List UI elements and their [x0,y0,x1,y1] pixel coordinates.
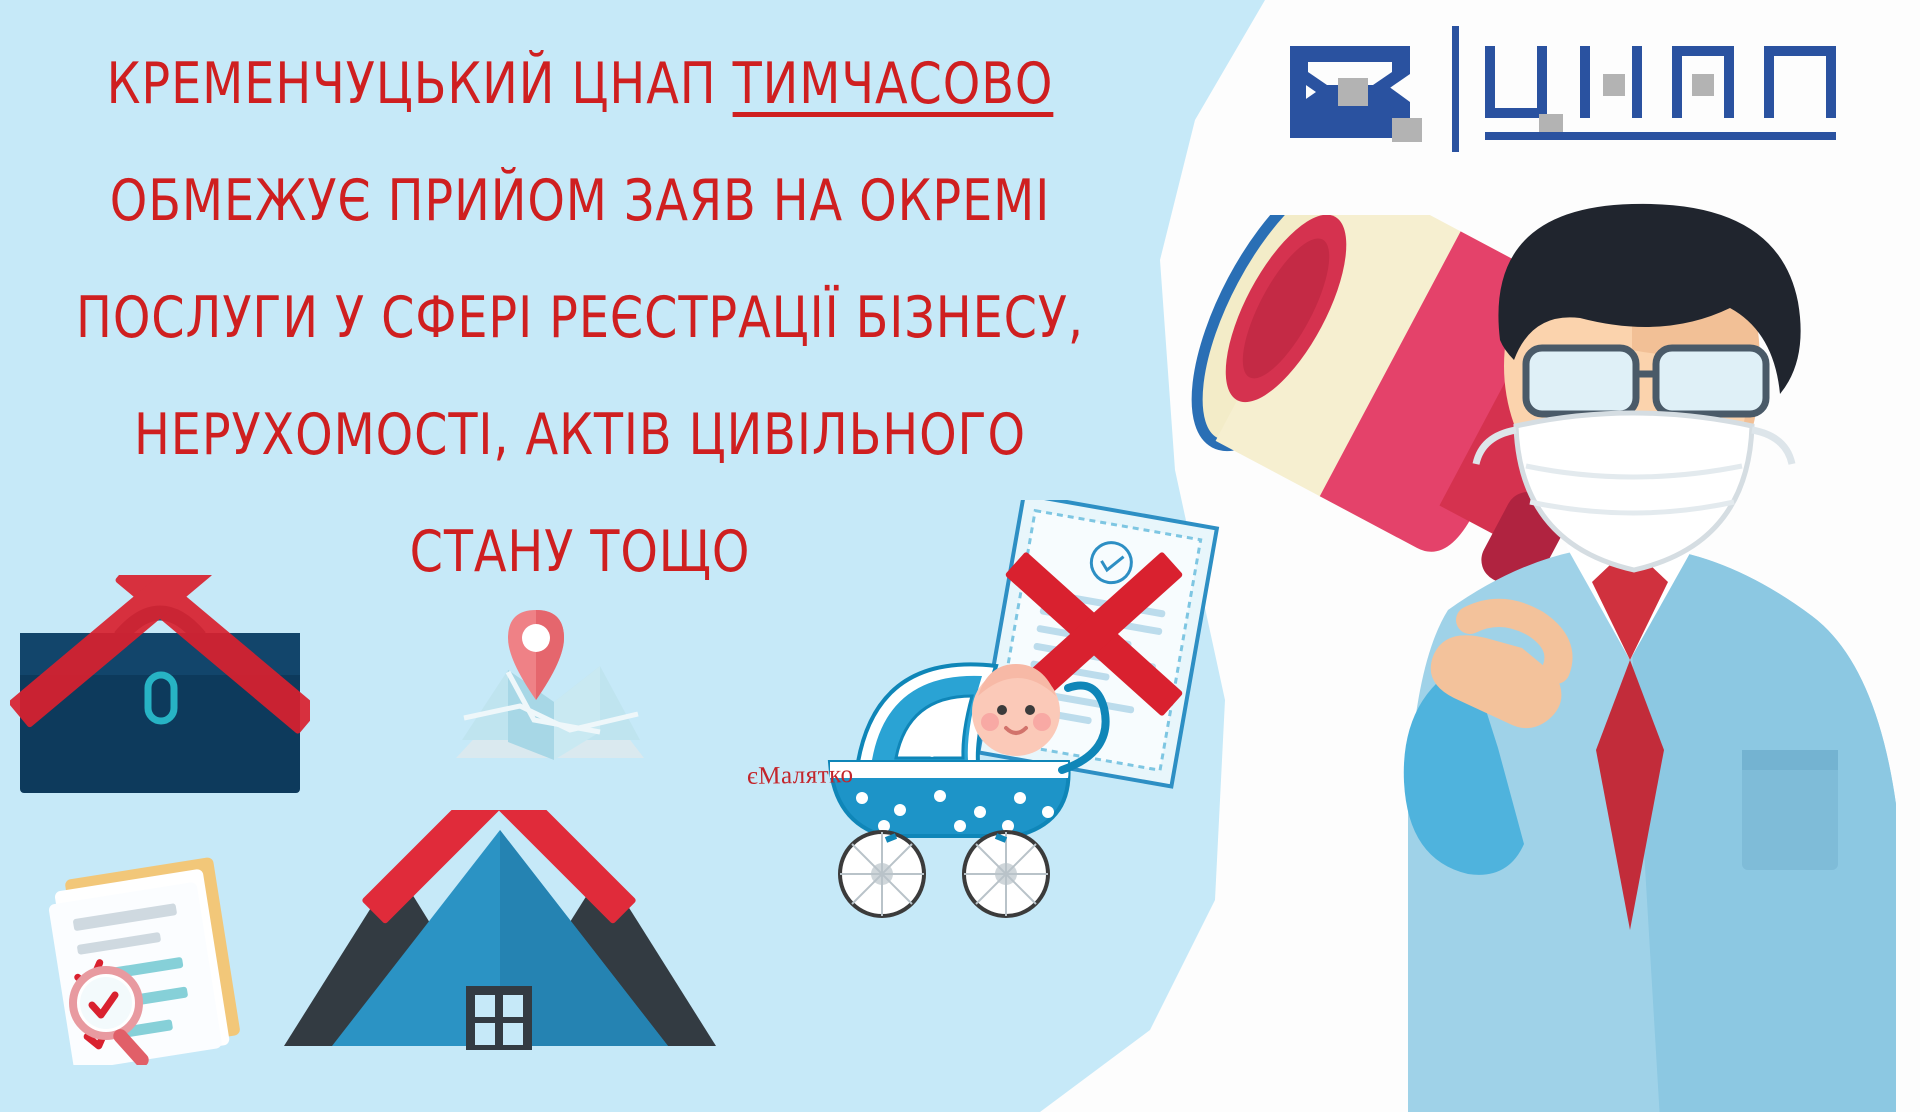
logo-divider-icon [1452,26,1459,152]
wheel-icon [964,832,1048,916]
wheel-icon [840,832,924,916]
headline-line-1-plain: КРЕМЕНЧУЦЬКИЙ ЦНАП [107,51,733,117]
cnap-logo: Центр надання адміністративних послуг [1280,14,1900,164]
face-mask-icon [1476,413,1792,570]
headline-block: КРЕМЕНЧУЦЬКИЙ ЦНАП ТИМЧАСОВО ОБМЕЖУЄ ПРИ… [41,26,1120,611]
man-icon [1330,190,1920,1112]
logo-wordmark-icon [1485,46,1836,140]
poster-canvas: КРЕМЕНЧУЦЬКИЙ ЦНАП ТИМЧАСОВО ОБМЕЖУЄ ПРИ… [0,0,1920,1112]
headline-line-1: КРЕМЕНЧУЦЬКИЙ ЦНАП ТИМЧАСОВО [41,26,1120,143]
headline-line-2: ОБМЕЖУЄ ПРИЙОМ ЗАЯВ НА ОКРЕМІ [41,143,1120,260]
emalyatko-label: єМалятко [747,761,854,791]
house-icon [270,810,730,1070]
briefcase-icon [10,575,310,805]
documents-icon [40,855,270,1065]
headline-line-3: ПОСЛУГИ У СФЕРІ РЕЄСТРАЦІЇ БІЗНЕСУ, [41,260,1120,377]
headline-line-1-emphasis: ТИМЧАСОВО [733,51,1054,117]
logo-emblem-icon [1290,46,1422,142]
map-icon [450,610,650,800]
headline-line-4: НЕРУХОМОСТІ, АКТІВ ЦИВІЛЬНОГО [41,377,1120,494]
